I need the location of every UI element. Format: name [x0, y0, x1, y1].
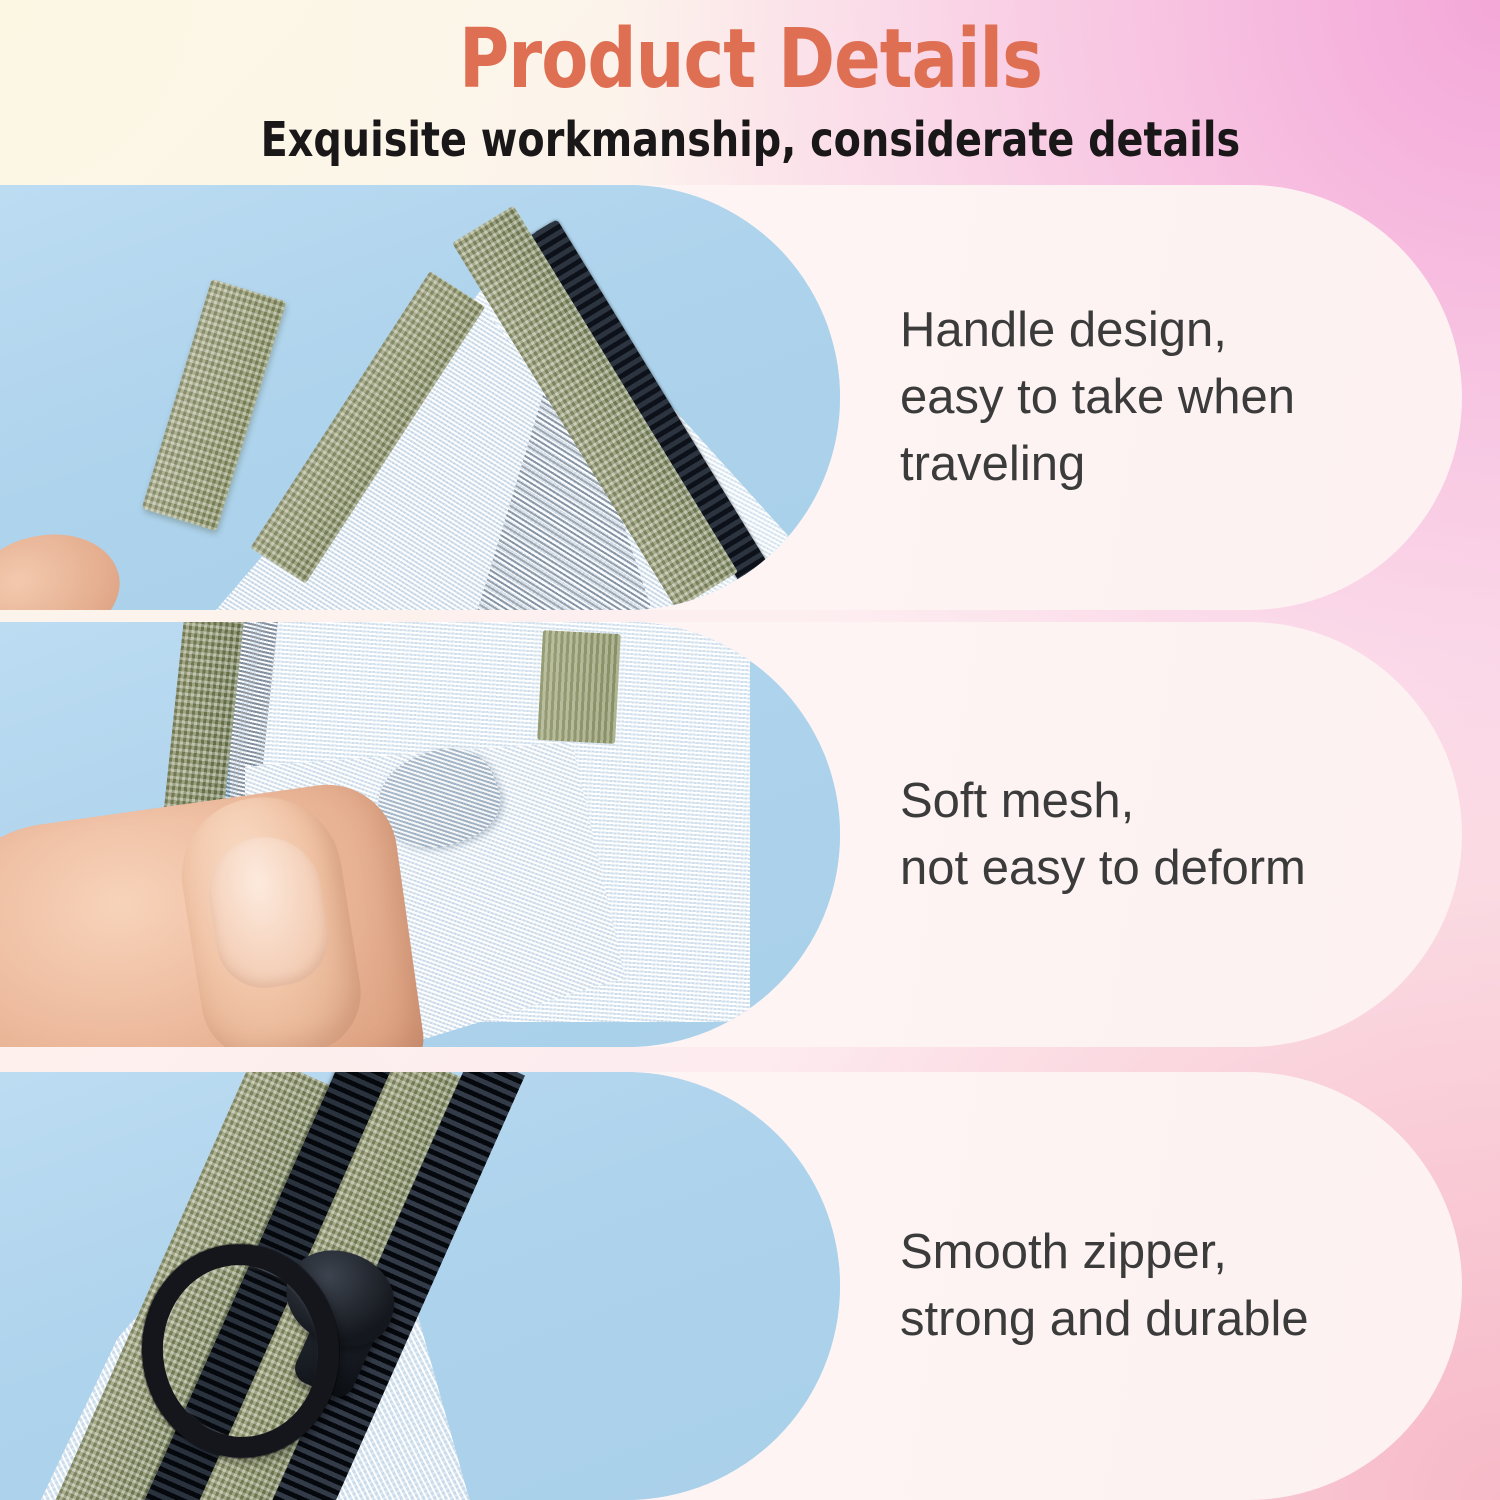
- feature-caption: Soft mesh, not easy to deform: [900, 622, 1306, 1047]
- feature-caption-text: Smooth zipper, strong and durable: [900, 1219, 1309, 1353]
- header: Product Details Exquisite workmanship, c…: [0, 0, 1500, 182]
- feature-caption-text: Soft mesh, not easy to deform: [900, 768, 1306, 902]
- page-title: Product Details: [458, 14, 1041, 106]
- feature-row-smooth-zipper: Smooth zipper, strong and durable: [0, 1072, 1500, 1500]
- feature-photo-soft-mesh: [0, 622, 840, 1047]
- feature-row-soft-mesh: Soft mesh, not easy to deform: [0, 622, 1500, 1047]
- feature-caption: Smooth zipper, strong and durable: [900, 1072, 1309, 1500]
- product-details-infographic: Product Details Exquisite workmanship, c…: [0, 0, 1500, 1500]
- feature-caption-text: Handle design, easy to take when traveli…: [900, 297, 1295, 498]
- feature-caption: Handle design, easy to take when traveli…: [900, 185, 1295, 610]
- handle-tab: [537, 630, 621, 744]
- feature-photo-handle-design: [0, 185, 840, 610]
- feature-row-handle-design: Handle design, easy to take when traveli…: [0, 185, 1500, 610]
- feature-photo-smooth-zipper: [0, 1072, 840, 1500]
- page-subtitle: Exquisite workmanship, considerate detai…: [260, 112, 1240, 168]
